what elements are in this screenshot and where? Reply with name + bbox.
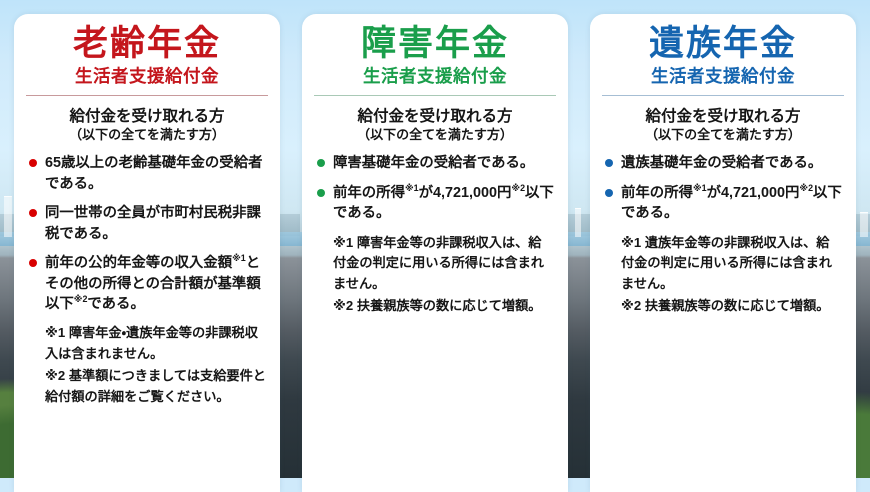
footnote-marker-2: ※2 xyxy=(74,294,88,304)
card-subtitle: 生活者支援給付金 xyxy=(310,67,560,86)
bullet-text-mid: が4,721,000円 xyxy=(419,185,512,201)
eligibility-heading: 給付金を受け取れる方 xyxy=(316,107,554,126)
eligibility-list: 65歳以上の老齢基礎年金の受給者である。 同一世帯の全員が市町村民税非課税である… xyxy=(28,153,266,314)
eligibility-list: 遺族基礎年金の受給者である。 前年の所得※1が4,721,000円※2以下である… xyxy=(604,153,842,223)
card-body: 給付金を受け取れる方 （以下の全てを満たす方） 障害基礎年金の受給者である。 前… xyxy=(302,96,568,328)
bullet-text: 前年の公的年金等の収入金額 xyxy=(45,255,232,271)
footnote-item: ※1 障害年金等の非課税収入は、給付金の判定に用いる所得には含まれません。 xyxy=(333,233,554,296)
footnote-marker-1: ※1 xyxy=(693,183,707,193)
eligibility-subheading: （以下の全てを満たす方） xyxy=(28,127,266,144)
benefit-card-disability-pension[interactable]: 障害年金 生活者支援給付金 給付金を受け取れる方 （以下の全てを満たす方） 障害… xyxy=(302,14,568,492)
card-header: 老齢年金 生活者支援給付金 xyxy=(14,14,280,95)
bullet-text: 65歳以上の老齢基礎年金の受給者である。 xyxy=(45,155,262,191)
benefit-cards-container: 老齢年金 生活者支援給付金 給付金を受け取れる方 （以下の全てを満たす方） 65… xyxy=(0,0,870,478)
bullet-text: 前年の所得 xyxy=(333,185,405,201)
footnotes-list: ※1 障害年金等の非課税収入は、給付金の判定に用いる所得には含まれません。 ※2… xyxy=(316,233,554,317)
list-item: 前年の所得※1が4,721,000円※2以下である。 xyxy=(316,183,554,224)
footnote-item: ※1 遺族年金等の非課税収入は、給付金の判定に用いる所得には含まれません。 xyxy=(621,233,842,296)
list-item: 遺族基礎年金の受給者である。 xyxy=(604,153,842,173)
benefit-card-old-age-pension[interactable]: 老齢年金 生活者支援給付金 給付金を受け取れる方 （以下の全てを満たす方） 65… xyxy=(14,14,280,492)
list-item: 前年の公的年金等の収入金額※1とその他の所得との合計額が基準額以下※2である。 xyxy=(28,253,266,314)
bullet-text-tail: である。 xyxy=(87,296,144,312)
card-header: 障害年金 生活者支援給付金 xyxy=(302,14,568,95)
bullet-text-mid: が4,721,000円 xyxy=(707,185,800,201)
footnotes-list: ※1 遺族年金等の非課税収入は、給付金の判定に用いる所得には含まれません。 ※2… xyxy=(604,233,842,317)
eligibility-subheading: （以下の全てを満たす方） xyxy=(604,127,842,144)
bullet-text: 遺族基礎年金の受給者である。 xyxy=(621,155,822,171)
card-subtitle: 生活者支援給付金 xyxy=(598,67,848,86)
card-title: 障害年金 xyxy=(310,26,560,63)
footnote-marker-2: ※2 xyxy=(799,183,813,193)
footnote-item: ※1 障害年金・遺族年金等の非課税収入は含まれません。 xyxy=(45,323,266,365)
card-header: 遺族年金 生活者支援給付金 xyxy=(590,14,856,95)
footnotes-list: ※1 障害年金・遺族年金等の非課税収入は含まれません。 ※2 基準額につきまして… xyxy=(28,323,266,407)
bullet-text: 障害基礎年金の受給者である。 xyxy=(333,155,534,171)
footnote-marker-1: ※1 xyxy=(405,183,419,193)
list-item: 前年の所得※1が4,721,000円※2以下である。 xyxy=(604,183,842,224)
card-body: 給付金を受け取れる方 （以下の全てを満たす方） 65歳以上の老齢基礎年金の受給者… xyxy=(14,96,280,419)
footnote-item: ※2 基準額につきましては支給要件と給付額の詳細をご覧ください。 xyxy=(45,366,266,408)
card-subtitle: 生活者支援給付金 xyxy=(22,67,272,86)
list-item: 同一世帯の全員が市町村民税非課税である。 xyxy=(28,203,266,244)
card-title: 遺族年金 xyxy=(598,26,848,63)
bullet-text: 前年の所得 xyxy=(621,185,693,201)
list-item: 障害基礎年金の受給者である。 xyxy=(316,153,554,173)
footnote-marker-2: ※2 xyxy=(511,183,525,193)
card-body: 給付金を受け取れる方 （以下の全てを満たす方） 遺族基礎年金の受給者である。 前… xyxy=(590,96,856,328)
card-title: 老齢年金 xyxy=(22,26,272,63)
eligibility-list: 障害基礎年金の受給者である。 前年の所得※1が4,721,000円※2以下である… xyxy=(316,153,554,223)
footnote-item: ※2 扶養親族等の数に応じて増額。 xyxy=(333,296,554,317)
footnote-item: ※2 扶養親族等の数に応じて増額。 xyxy=(621,296,842,317)
eligibility-heading: 給付金を受け取れる方 xyxy=(604,107,842,126)
eligibility-subheading: （以下の全てを満たす方） xyxy=(316,127,554,144)
eligibility-heading: 給付金を受け取れる方 xyxy=(28,107,266,126)
benefit-card-survivors-pension[interactable]: 遺族年金 生活者支援給付金 給付金を受け取れる方 （以下の全てを満たす方） 遺族… xyxy=(590,14,856,492)
footnote-marker-1: ※1 xyxy=(232,253,246,263)
list-item: 65歳以上の老齢基礎年金の受給者である。 xyxy=(28,153,266,194)
bullet-text: 同一世帯の全員が市町村民税非課税である。 xyxy=(45,205,261,241)
